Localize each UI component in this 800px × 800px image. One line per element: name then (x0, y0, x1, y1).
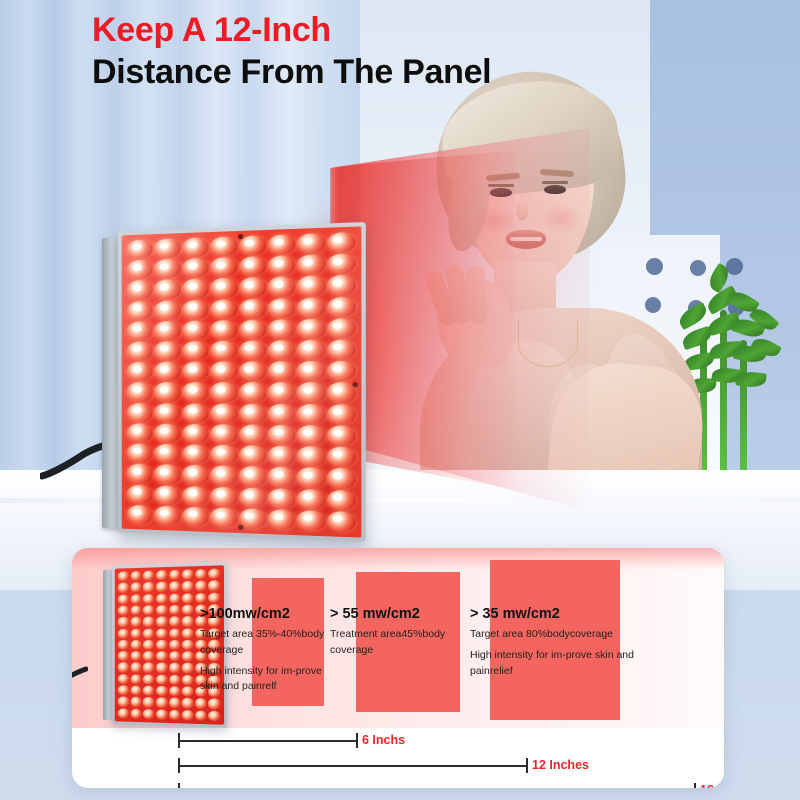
led-bulb (239, 445, 267, 465)
led-bulb (127, 239, 153, 259)
led-bulb (239, 424, 267, 444)
headline-line-1: Keep A 12-Inch (92, 12, 491, 49)
led-bulb (297, 361, 326, 381)
intensity-line-3-1: Target area 80%bodycoverage (470, 627, 660, 643)
led-bulb (156, 651, 168, 662)
led-bulb (118, 606, 130, 617)
led-bulb (169, 698, 181, 709)
led-bulb (154, 341, 181, 361)
led-bulb (154, 423, 181, 443)
led-bulb (297, 425, 326, 446)
led-bulb (327, 296, 356, 317)
headline: Keep A 12-Inch Distance From The Panel (92, 12, 491, 91)
led-bulb (154, 485, 181, 505)
led-bulb (239, 298, 267, 318)
led-bulb (143, 605, 155, 616)
led-bulb (130, 628, 142, 639)
led-bulb (208, 580, 220, 591)
led-bulb (210, 507, 238, 528)
ruler-label-1: 6 Inchs (362, 732, 405, 749)
mini-power-cable (72, 666, 88, 684)
led-bulb (169, 616, 181, 627)
led-bulb (182, 424, 209, 444)
led-bulb (169, 570, 181, 581)
led-bulb (169, 593, 181, 604)
led-bulb (156, 686, 168, 697)
led-bulb (169, 605, 181, 616)
led-bulb (297, 467, 326, 488)
led-bulb (127, 504, 153, 524)
led-bulb (210, 299, 238, 319)
led-bulb (127, 342, 153, 362)
led-bulb (130, 663, 142, 674)
led-bulb (156, 628, 168, 639)
led-bulb (239, 383, 267, 403)
intensity-block-1: >100mw/cm2 Target area 35%-40%body cover… (200, 606, 328, 695)
led-bulb (208, 569, 220, 580)
led-bulb (210, 362, 238, 382)
led-bulb (327, 253, 356, 274)
led-bulb (169, 628, 181, 639)
led-bulb (118, 651, 130, 661)
led-bulb (127, 403, 153, 423)
led-grid (127, 232, 356, 532)
led-bulb (118, 594, 130, 605)
led-bulb (118, 685, 130, 696)
led-bulb (156, 709, 168, 720)
led-bulb (156, 697, 168, 708)
led-bulb (239, 340, 267, 360)
led-bulb (208, 592, 220, 603)
led-bulb (154, 259, 181, 279)
led-bulb (118, 583, 130, 594)
led-bulb (297, 297, 326, 318)
led-bulb (130, 605, 142, 616)
led-bulb (130, 685, 142, 696)
led-bulb (182, 640, 194, 651)
led-bulb (210, 445, 238, 465)
led-bulb (154, 321, 181, 341)
led-bulb (143, 594, 155, 605)
product-infographic: Keep A 12-Inch Distance From The Panel >… (0, 0, 800, 800)
led-bulb (182, 258, 209, 278)
led-bulb (268, 361, 296, 381)
led-bulb (143, 663, 155, 674)
ruler-label-3: 18 Inches (700, 782, 724, 788)
intensity-line-1-2: High intensity for im-prove skin and pai… (200, 664, 328, 696)
led-bulb (118, 628, 130, 638)
led-bulb (143, 617, 155, 628)
led-bulb (182, 698, 194, 709)
ruler-label-2: 12 Inches (532, 757, 589, 774)
led-bulb (327, 275, 356, 296)
led-bulb (143, 640, 155, 651)
led-bulb (118, 697, 130, 708)
led-bulb (210, 278, 238, 298)
led-panel-main (104, 222, 368, 542)
info-card: >100mw/cm2 Target area 35%-40%body cover… (72, 548, 724, 788)
led-bulb (239, 466, 267, 487)
led-bulb (210, 236, 238, 257)
intensity-title-3: > 35 mw/cm2 (470, 606, 660, 622)
led-bulb (210, 341, 238, 361)
led-bulb (130, 594, 142, 605)
led-bulb (154, 403, 181, 423)
led-bulb (182, 651, 194, 662)
led-bulb (154, 279, 181, 299)
led-bulb (169, 581, 181, 592)
led-bulb (156, 605, 168, 616)
led-bulb (239, 403, 267, 423)
led-bulb (182, 663, 194, 674)
intensity-block-3: > 35 mw/cm2 Target area 80%bodycoverage … (470, 606, 660, 679)
led-bulb (156, 674, 168, 685)
led-bulb (154, 444, 181, 464)
led-bulb (208, 710, 220, 721)
led-bulb (143, 686, 155, 697)
led-bulb (182, 444, 209, 464)
led-bulb (143, 709, 155, 720)
intensity-line-2-1: Treatment area45%body coverage (330, 627, 458, 659)
led-bulb (182, 382, 209, 402)
led-bulb (169, 686, 181, 697)
led-bulb (118, 708, 130, 719)
led-bulb (156, 570, 168, 581)
led-bulb (195, 581, 207, 592)
intensity-line-1-1: Target area 35%-40%body coverage (200, 627, 328, 659)
led-bulb (195, 569, 207, 580)
led-bulb (182, 320, 209, 340)
led-bulb (327, 447, 356, 468)
headline-line-2: Distance From The Panel (92, 53, 491, 91)
led-bulb (182, 593, 194, 604)
led-bulb (127, 484, 153, 504)
led-bulb (327, 318, 356, 339)
led-bulb (182, 341, 209, 361)
led-bulb (239, 487, 267, 508)
panel-led-face (122, 226, 362, 537)
led-bulb (182, 403, 209, 423)
led-bulb (182, 710, 194, 721)
led-bulb (143, 628, 155, 639)
led-bulb (297, 446, 326, 467)
led-bulb (154, 464, 181, 484)
led-bulb (327, 361, 356, 381)
led-bulb (154, 300, 181, 320)
led-bulb (118, 674, 130, 685)
led-bulb (268, 446, 296, 467)
led-bulb (208, 699, 220, 710)
led-bulb (210, 320, 238, 340)
led-bulb (130, 640, 142, 650)
led-bulb (268, 404, 296, 424)
led-bulb (182, 581, 194, 592)
led-bulb (268, 276, 296, 297)
led-bulb (210, 486, 238, 507)
led-bulb (182, 465, 209, 485)
led-bulb (195, 710, 207, 721)
led-bulb (118, 571, 130, 582)
led-bulb (169, 640, 181, 651)
led-bulb (297, 510, 326, 531)
led-bulb (268, 319, 296, 339)
led-bulb (130, 674, 142, 685)
led-bulb (154, 362, 181, 382)
led-bulb (127, 260, 153, 280)
led-bulb (297, 233, 326, 254)
led-bulb (182, 237, 209, 258)
led-bulb (130, 651, 142, 662)
led-bulb (118, 640, 130, 650)
led-bulb (182, 675, 194, 686)
led-bulb (195, 698, 207, 709)
led-bulb (182, 506, 209, 527)
led-bulb (210, 257, 238, 278)
led-bulb (182, 569, 194, 580)
intensity-line-3-2: High intensity for im-prove skin and pai… (470, 648, 660, 680)
led-bulb (127, 423, 153, 443)
led-bulb (182, 486, 209, 506)
led-bulb (169, 675, 181, 686)
led-bulb (210, 424, 238, 444)
led-bulb (154, 505, 181, 525)
led-bulb (239, 319, 267, 339)
led-bulb (268, 383, 296, 403)
led-bulb (297, 404, 326, 424)
led-bulb (182, 604, 194, 615)
led-bulb (210, 403, 238, 423)
led-bulb (127, 301, 153, 321)
led-bulb (143, 582, 155, 593)
led-bulb (143, 674, 155, 685)
led-bulb (297, 276, 326, 297)
led-bulb (268, 340, 296, 360)
intensity-block-2: > 55 mw/cm2 Treatment area45%body covera… (330, 606, 458, 659)
led-bulb (143, 651, 155, 662)
led-bulb (297, 489, 326, 510)
led-bulb (239, 361, 267, 381)
led-bulb (182, 686, 194, 697)
led-bulb (130, 582, 142, 593)
intensity-title-2: > 55 mw/cm2 (330, 606, 458, 622)
led-bulb (195, 592, 207, 603)
led-bulb (210, 382, 238, 402)
led-bulb (156, 593, 168, 604)
led-bulb (297, 340, 326, 360)
led-bulb (169, 709, 181, 720)
led-bulb (169, 663, 181, 674)
led-bulb (239, 277, 267, 298)
led-bulb (327, 511, 356, 532)
led-bulb (130, 571, 142, 582)
led-bulb (127, 280, 153, 300)
led-bulb (154, 238, 181, 258)
led-bulb (143, 697, 155, 708)
led-bulb (127, 382, 153, 401)
led-bulb (327, 468, 356, 489)
panel-frame (118, 222, 366, 542)
led-bulb (127, 362, 153, 381)
led-bulb (182, 299, 209, 319)
led-bulb (268, 425, 296, 445)
led-bulb (182, 628, 194, 639)
led-bulb (127, 443, 153, 463)
led-bulb (118, 617, 130, 628)
led-bulb (182, 616, 194, 627)
led-bulb (297, 383, 326, 403)
led-bulb (327, 489, 356, 510)
led-bulb (268, 467, 296, 488)
led-bulb (297, 318, 326, 339)
led-bulb (268, 298, 296, 319)
led-bulb (327, 425, 356, 446)
led-bulb (130, 697, 142, 708)
led-bulb (127, 321, 153, 341)
led-bulb (297, 254, 326, 275)
led-bulb (156, 640, 168, 651)
led-bulb (169, 651, 181, 662)
led-bulb (182, 279, 209, 299)
led-bulb (143, 570, 155, 581)
led-bulb (327, 383, 356, 403)
led-bulb (210, 466, 238, 486)
led-bulb (268, 488, 296, 509)
led-bulb (268, 509, 296, 530)
led-bulb (127, 464, 153, 484)
led-bulb (156, 616, 168, 627)
led-bulb (156, 663, 168, 674)
led-bulb (130, 617, 142, 628)
led-bulb (239, 235, 267, 256)
led-bulb (327, 339, 356, 360)
led-bulb (268, 234, 296, 255)
intensity-title-1: >100mw/cm2 (200, 606, 328, 622)
led-bulb (327, 404, 356, 425)
led-bulb (182, 362, 209, 382)
led-bulb (239, 256, 267, 277)
led-bulb (156, 582, 168, 593)
led-bulb (327, 232, 356, 253)
led-bulb (154, 382, 181, 402)
led-bulb (118, 663, 130, 674)
led-bulb (268, 255, 296, 276)
led-bulb (130, 708, 142, 719)
